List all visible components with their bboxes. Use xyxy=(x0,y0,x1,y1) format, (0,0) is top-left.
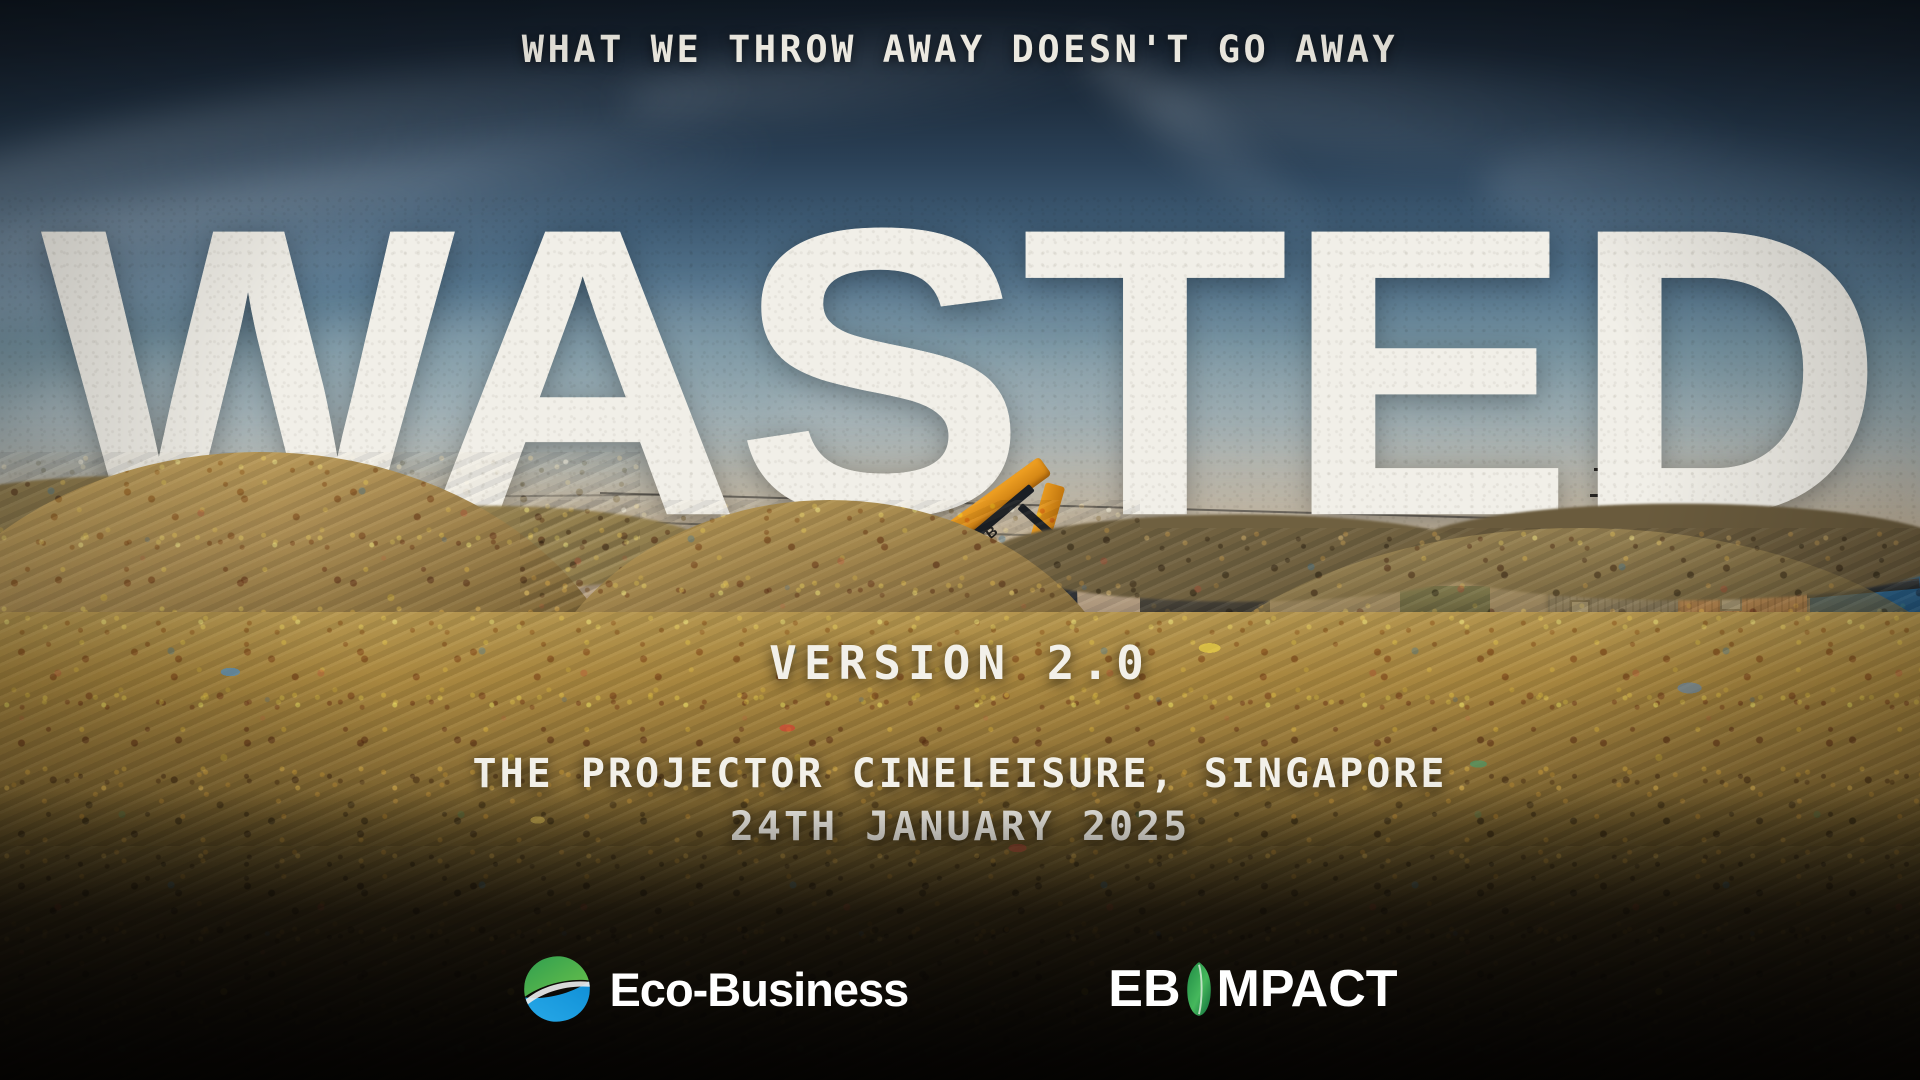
event-poster: WHAT WE THROW AWAY DOESN'T GO AWAY WASTE… xyxy=(0,0,1920,1080)
venue-block: THE PROJECTOR CINELEISURE, SINGAPORE 24T… xyxy=(0,748,1920,854)
eb-impact-logo[interactable]: EB MPACT xyxy=(1108,959,1397,1019)
version-label: VERSION 2.0 xyxy=(0,636,1920,690)
globe-leaf-icon xyxy=(522,954,592,1024)
date-line: 24TH JANUARY 2025 xyxy=(0,801,1920,854)
poster-tagline: WHAT WE THROW AWAY DOESN'T GO AWAY xyxy=(0,28,1920,71)
eco-business-wordmark: Eco-Business xyxy=(609,962,908,1017)
leaf-i-icon xyxy=(1186,961,1212,1017)
logo-row: Eco-Business EB MPACT xyxy=(0,954,1920,1024)
eco-business-logo[interactable]: Eco-Business xyxy=(522,954,908,1024)
eb-impact-suffix: MPACT xyxy=(1217,959,1398,1019)
eb-impact-prefix: EB xyxy=(1108,959,1180,1019)
venue-line: THE PROJECTOR CINELEISURE, SINGAPORE xyxy=(0,748,1920,801)
